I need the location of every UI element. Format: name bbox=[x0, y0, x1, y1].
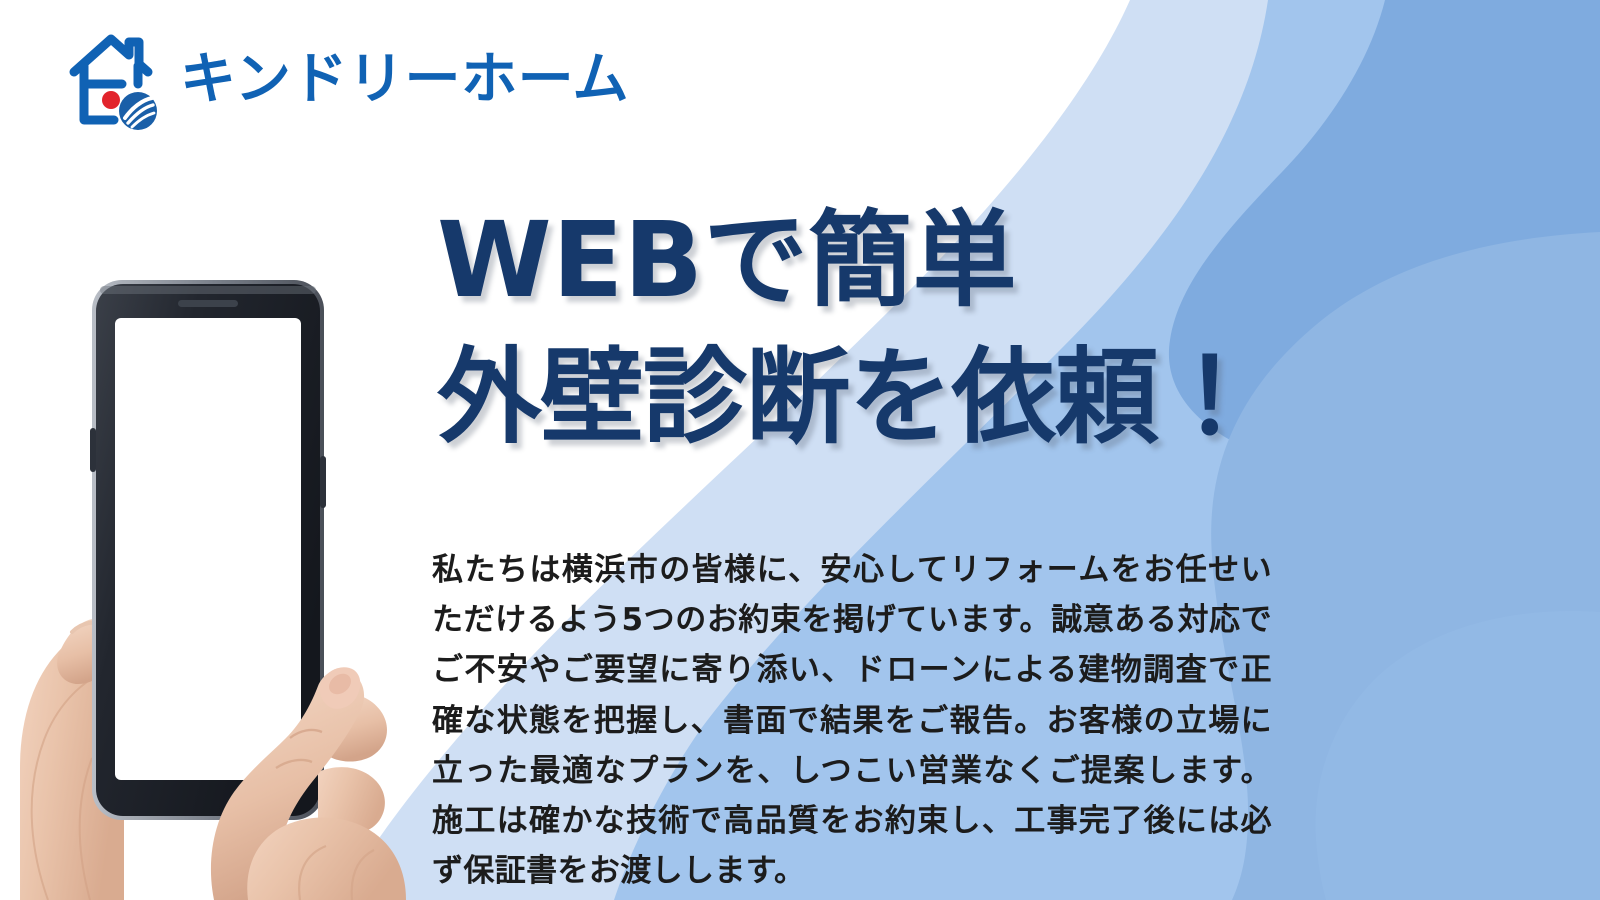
earpiece-speaker bbox=[178, 300, 238, 307]
phone-screen[interactable] bbox=[115, 318, 301, 780]
logo-text: キンドリーホーム bbox=[180, 52, 629, 108]
site-logo[interactable]: キンドリーホーム bbox=[66, 28, 629, 132]
house-logo-icon bbox=[66, 28, 162, 132]
wave-shape-accent bbox=[1315, 611, 1600, 900]
volume-button[interactable] bbox=[90, 428, 96, 472]
lead-paragraph: 私たちは横浜市の皆様に、安心してリフォームをお任せいただけるよう5つのお約束を掲… bbox=[432, 545, 1272, 897]
page-title: WEBで簡単 外壁診断を依頼！ bbox=[437, 192, 1277, 467]
power-button[interactable] bbox=[320, 456, 326, 508]
red-dot-icon bbox=[102, 91, 120, 109]
headline-line-2: 外壁診断を依頼！ bbox=[437, 329, 1277, 466]
headline-line-1: WEBで簡単 bbox=[437, 192, 1277, 329]
hand-holding-smartphone-photo bbox=[0, 248, 470, 900]
hero-banner: キンドリーホーム bbox=[0, 0, 1600, 900]
